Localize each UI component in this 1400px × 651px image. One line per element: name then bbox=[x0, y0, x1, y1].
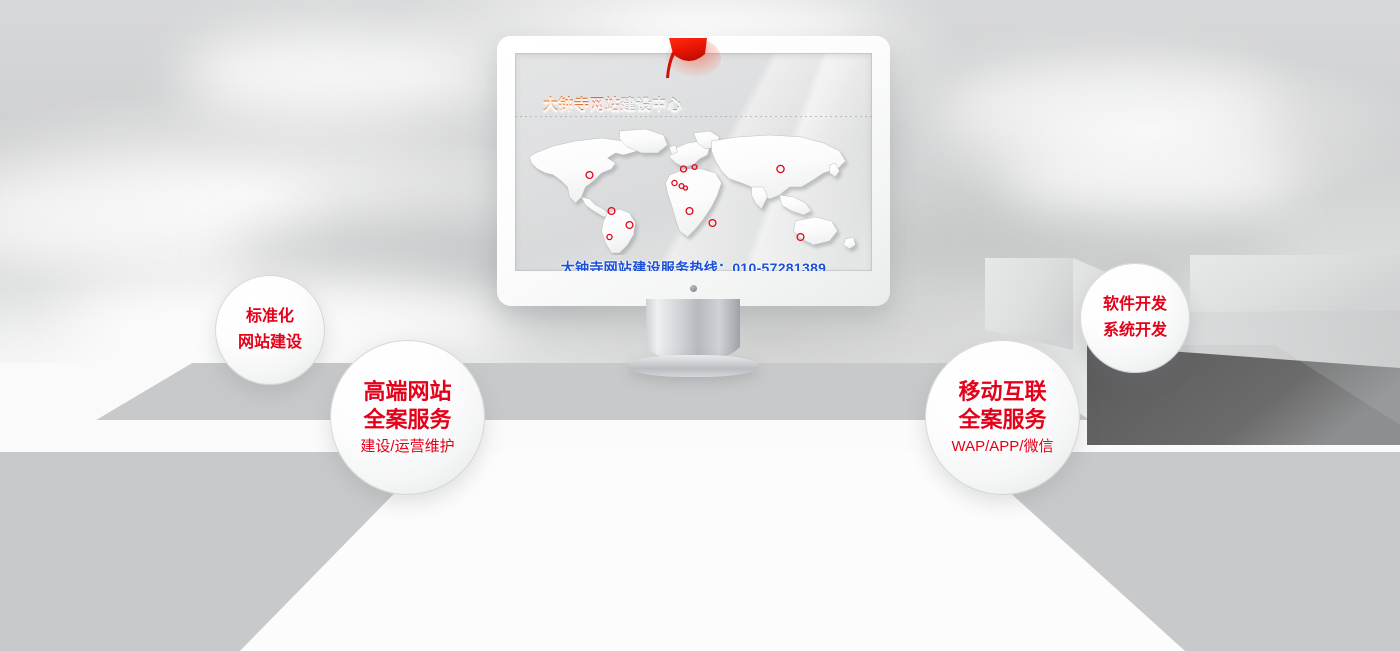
landmass-north-america bbox=[530, 138, 644, 203]
cloud-blob-1 bbox=[180, 30, 480, 120]
cloud-blob-4 bbox=[0, 170, 320, 270]
bubble-standard-website[interactable]: 标准化 网站建设 bbox=[215, 275, 325, 385]
cloud-blob-6 bbox=[850, 195, 1280, 285]
landmass-south-america bbox=[602, 209, 636, 253]
camera-dot-icon bbox=[690, 285, 697, 292]
bubble-software-development[interactable]: 软件开发 系统开发 bbox=[1080, 263, 1190, 373]
world-map bbox=[515, 125, 872, 255]
bubble-high-end-website[interactable]: 高端网站 全案服务 建设/运营维护 bbox=[330, 340, 485, 495]
landmass-southeast-asia bbox=[780, 195, 812, 215]
bubble-line-1: 软件开发 bbox=[1103, 295, 1167, 315]
bubble-mobile-internet[interactable]: 移动互联 全案服务 WAP/APP/微信 bbox=[925, 340, 1080, 495]
platform-wall-top bbox=[1190, 255, 1400, 312]
landmass-new-zealand bbox=[844, 237, 856, 249]
monitor-stand-base bbox=[628, 355, 759, 377]
monitor-screen: 大钟寺网站建设中心 bbox=[515, 53, 872, 271]
floor-wedge-left-big bbox=[0, 363, 640, 651]
map-marker bbox=[692, 165, 697, 170]
bubble-line-2: 系统开发 bbox=[1103, 321, 1167, 341]
bubble-line-2: 全案服务 bbox=[958, 406, 1046, 434]
screen-hotline-text: 大钟寺网站建设服务热线：010-57281389 bbox=[515, 258, 872, 271]
desktop-monitor: 大钟寺网站建设中心 bbox=[497, 36, 890, 306]
floor-composition bbox=[0, 363, 1400, 651]
floor-wedge-left-upper bbox=[0, 363, 390, 365]
cloud-blob-3 bbox=[940, 60, 1280, 155]
banner-stage: 大钟寺网站建设中心 bbox=[0, 0, 1400, 651]
bubble-line-1: 移动互联 bbox=[958, 378, 1046, 406]
platform-slab-left bbox=[985, 258, 1073, 350]
bubble-line-3: WAP/APP/微信 bbox=[952, 437, 1054, 457]
map-marker bbox=[709, 220, 716, 227]
screen-divider-line bbox=[515, 116, 872, 117]
floor-slab-top-left-edge bbox=[0, 363, 192, 420]
bubble-line-2: 网站建设 bbox=[238, 333, 302, 353]
landmass-central-america bbox=[582, 197, 610, 217]
bubble-line-2: 全案服务 bbox=[363, 406, 451, 434]
cloud-blob-8 bbox=[1000, 140, 1300, 220]
bubble-line-1: 高端网站 bbox=[363, 378, 451, 406]
bubble-line-1: 标准化 bbox=[246, 307, 294, 327]
landmass-asia bbox=[712, 135, 846, 199]
stand-neck-shape bbox=[646, 299, 740, 359]
platform-wall-face bbox=[1190, 310, 1400, 368]
screen-title-text: 大钟寺网站建设中心 bbox=[543, 93, 683, 114]
bubble-line-3: 建设/运营维护 bbox=[360, 437, 454, 457]
